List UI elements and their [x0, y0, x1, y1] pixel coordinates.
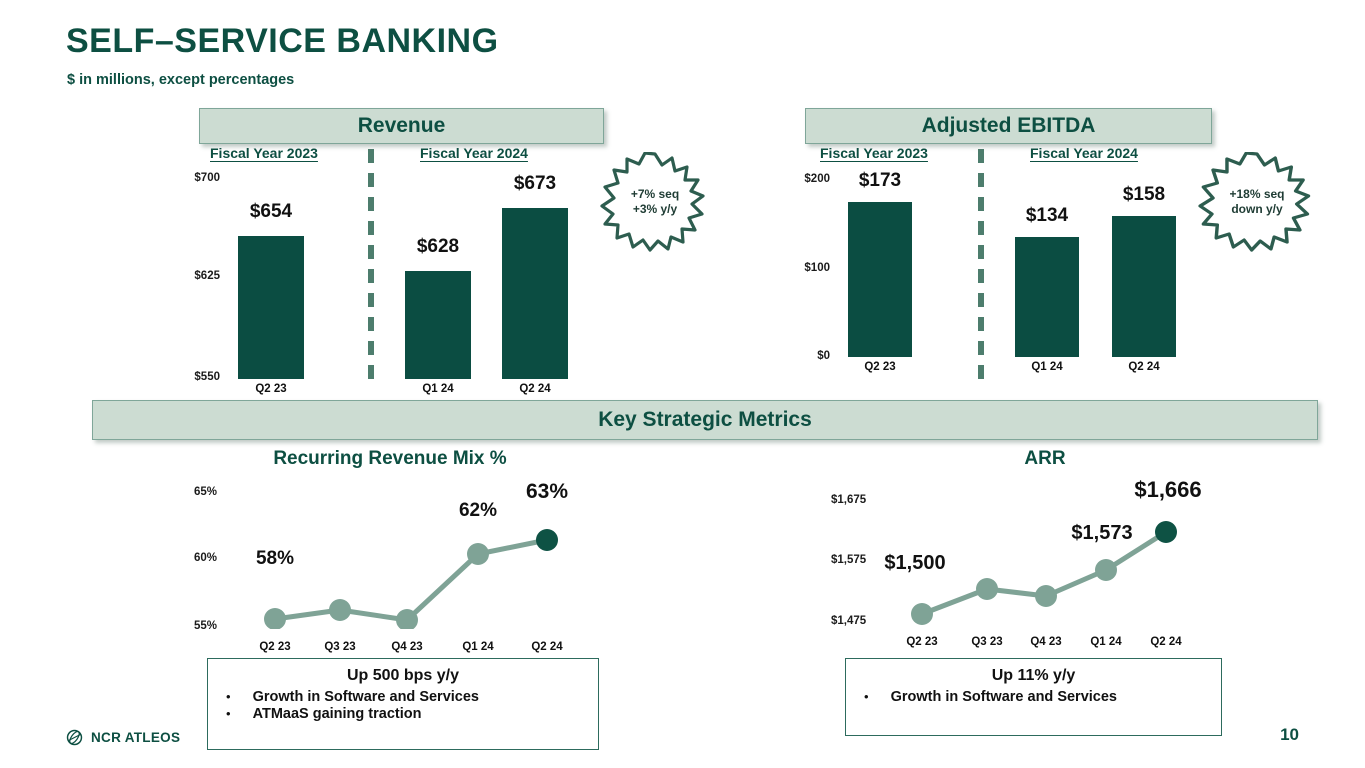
recurring-mix-bullet-2-text: ATMaaS gaining traction [253, 706, 422, 722]
revenue-callout-line1: +7% seq [631, 187, 679, 202]
ebitda-bar-label-q1-24: $134 [997, 205, 1097, 227]
revenue-starburst-callout: +7% seq +3% y/y [600, 152, 710, 252]
ebitda-fiscal-divider [978, 149, 984, 379]
revenue-bar-label-q2-24: $673 [484, 173, 586, 195]
recurring-mix-callout-headline: Up 500 bps y/y [218, 667, 588, 685]
key-strategic-metrics-banner: Key Strategic Metrics [92, 400, 1318, 440]
revenue-bar-label-q1-24: $628 [387, 236, 489, 258]
ebitda-starburst-text: +18% seq down y/y [1198, 152, 1316, 252]
ebitda-fiscal-2023-label: Fiscal Year 2023 [820, 145, 928, 161]
revenue-callout-line2: +3% y/y [633, 202, 677, 217]
revenue-fiscal-2024-label: Fiscal Year 2024 [420, 145, 528, 161]
page-subtitle: $ in millions, except percentages [67, 72, 294, 88]
arr-label-q1-24: $1,573 [1037, 522, 1167, 545]
slide-canvas: SELF–SERVICE BANKING $ in millions, exce… [0, 0, 1365, 768]
arr-title: ARR [945, 448, 1145, 470]
recurring-mix-bullet-1: • Growth in Software and Services [226, 689, 588, 705]
revenue-cat-q2-23: Q2 23 [220, 383, 322, 395]
arr-callout-box: Up 11% y/y • Growth in Software and Serv… [845, 658, 1222, 736]
ncr-atleos-globe-icon [66, 729, 83, 746]
arr-bullet-1-text: Growth in Software and Services [891, 689, 1117, 705]
recurring-mix-label-q2-24: 63% [497, 480, 597, 504]
ebitda-cat-q2-24: Q2 24 [1094, 361, 1194, 373]
bullet-dot-icon: • [226, 690, 231, 703]
revenue-bar-q2-23 [238, 236, 304, 379]
arr-chart: ARR $1,675 $1,575 $1,475 $1,500 $1,573 $… [815, 448, 1235, 653]
recurring-mix-bullet-2: • ATMaaS gaining traction [226, 706, 588, 722]
arr-cat-q2-24: Q2 24 [1119, 636, 1213, 648]
ebitda-bar-q1-24 [1015, 237, 1079, 357]
recurring-revenue-mix-chart: Recurring Revenue Mix % 65% 60% 55% 58% … [180, 448, 600, 653]
ebitda-chart: Fiscal Year 2023 Fiscal Year 2024 $200 $… [790, 145, 1230, 395]
ebitda-banner-label: Adjusted EBITDA [922, 114, 1096, 138]
footer-logo-text: NCR ATLEOS [91, 730, 180, 745]
revenue-ytick-700: $700 [170, 172, 220, 184]
arr-label-q2-23: $1,500 [850, 552, 980, 575]
bullet-dot-icon: • [226, 707, 231, 720]
arr-callout-headline: Up 11% y/y [856, 667, 1211, 685]
ebitda-callout-line1: +18% seq [1229, 187, 1284, 202]
recurring-mix-callout-box: Up 500 bps y/y • Growth in Software and … [207, 658, 599, 750]
ebitda-ytick-0: $0 [780, 350, 830, 362]
ebitda-bar-label-q2-24: $158 [1094, 184, 1194, 206]
page-number: 10 [1280, 725, 1299, 745]
ebitda-fiscal-2024-label: Fiscal Year 2024 [1030, 145, 1138, 161]
ebitda-ytick-100: $100 [780, 262, 830, 274]
recurring-mix-bullet-1-text: Growth in Software and Services [253, 689, 479, 705]
revenue-fiscal-2023-label: Fiscal Year 2023 [210, 145, 318, 161]
recurring-mix-label-q2-23: 58% [225, 548, 325, 570]
revenue-ytick-625: $625 [170, 270, 220, 282]
revenue-banner: Revenue [199, 108, 604, 144]
arr-label-q2-24: $1,666 [1103, 477, 1233, 503]
key-strategic-metrics-label: Key Strategic Metrics [598, 408, 812, 432]
ebitda-banner: Adjusted EBITDA [805, 108, 1212, 144]
ebitda-bar-label-q2-23: $173 [830, 170, 930, 192]
recurring-mix-title: Recurring Revenue Mix % [180, 448, 600, 470]
revenue-fiscal-divider [368, 149, 374, 379]
revenue-chart: Fiscal Year 2023 Fiscal Year 2024 $700 $… [180, 145, 620, 395]
ebitda-cat-q2-23: Q2 23 [830, 361, 930, 373]
footer-logo: NCR ATLEOS [66, 729, 180, 746]
recurring-mix-cat-q2-24: Q2 24 [500, 641, 594, 653]
ebitda-starburst-callout: +18% seq down y/y [1198, 152, 1316, 252]
revenue-ytick-550: $550 [170, 371, 220, 383]
ebitda-bar-q2-24 [1112, 216, 1176, 357]
ebitda-callout-line2: down y/y [1231, 202, 1282, 217]
revenue-starburst-text: +7% seq +3% y/y [600, 152, 710, 252]
revenue-bar-label-q2-23: $654 [220, 201, 322, 223]
revenue-banner-label: Revenue [358, 114, 446, 138]
page-title: SELF–SERVICE BANKING [66, 22, 499, 61]
revenue-bar-q2-24 [502, 208, 568, 379]
revenue-cat-q1-24: Q1 24 [387, 383, 489, 395]
bullet-dot-icon: • [864, 690, 869, 703]
revenue-cat-q2-24: Q2 24 [484, 383, 586, 395]
ebitda-bar-q2-23 [848, 202, 912, 357]
revenue-bar-q1-24 [405, 271, 471, 379]
ebitda-cat-q1-24: Q1 24 [997, 361, 1097, 373]
ebitda-ytick-200: $200 [780, 173, 830, 185]
arr-bullet-1: • Growth in Software and Services [864, 689, 1211, 705]
